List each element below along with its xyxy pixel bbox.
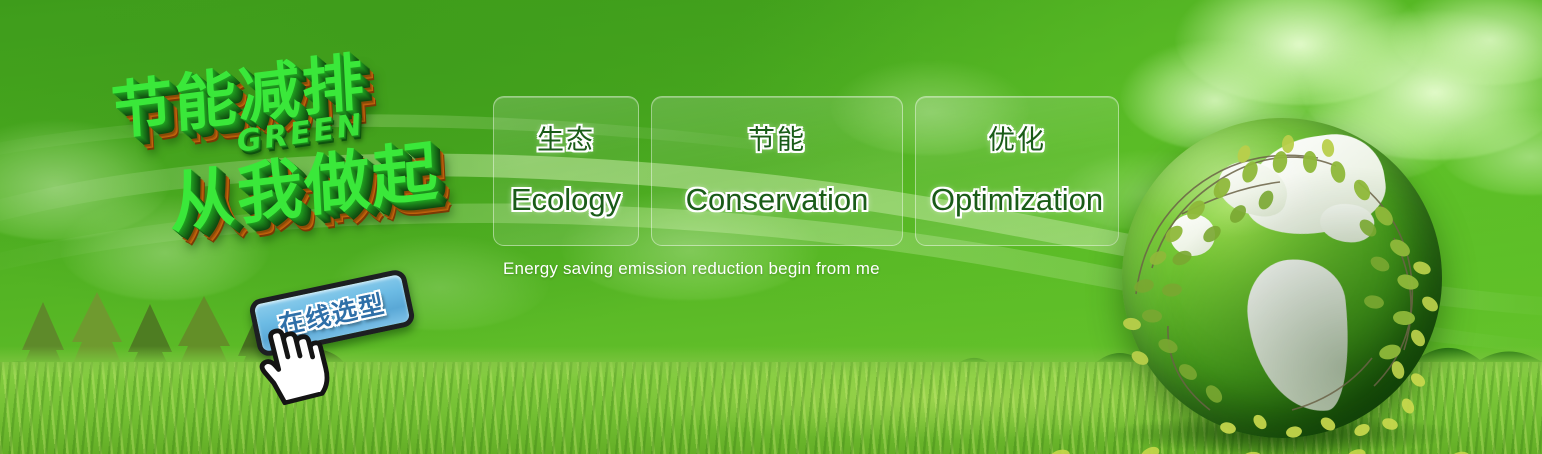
feature-card-cn-label: 节能 [748, 127, 806, 154]
green-energy-banner: 节能减排 GREEN 从我做起 生态 Ecology 节能 Conservati… [0, 0, 1542, 454]
feature-card-ecology[interactable]: 生态 Ecology [493, 96, 639, 246]
cta-button-group[interactable]: 在线选型 [252, 278, 427, 363]
feature-card-conservation[interactable]: 节能 Conservation [651, 96, 903, 246]
feature-card-en-label: Conservation [686, 184, 869, 215]
tagline-text: Energy saving emission reduction begin f… [503, 259, 880, 279]
fallen-leaves-ground [1032, 410, 1542, 454]
feature-card-optimization[interactable]: 优化 Optimization [915, 96, 1119, 246]
feature-cards: 生态 Ecology 节能 Conservation 优化 Optimizati… [493, 96, 1119, 246]
feature-card-en-label: Optimization [931, 184, 1103, 215]
feature-card-cn-label: 生态 [537, 127, 595, 154]
earth-globe-graphic [1122, 118, 1442, 438]
feature-card-cn-label: 优化 [988, 127, 1046, 154]
globe-vine-overlay [1122, 118, 1442, 438]
hero-headline-artwork: 节能减排 GREEN 从我做起 [96, 38, 496, 268]
feature-card-en-label: Ecology [511, 184, 621, 215]
